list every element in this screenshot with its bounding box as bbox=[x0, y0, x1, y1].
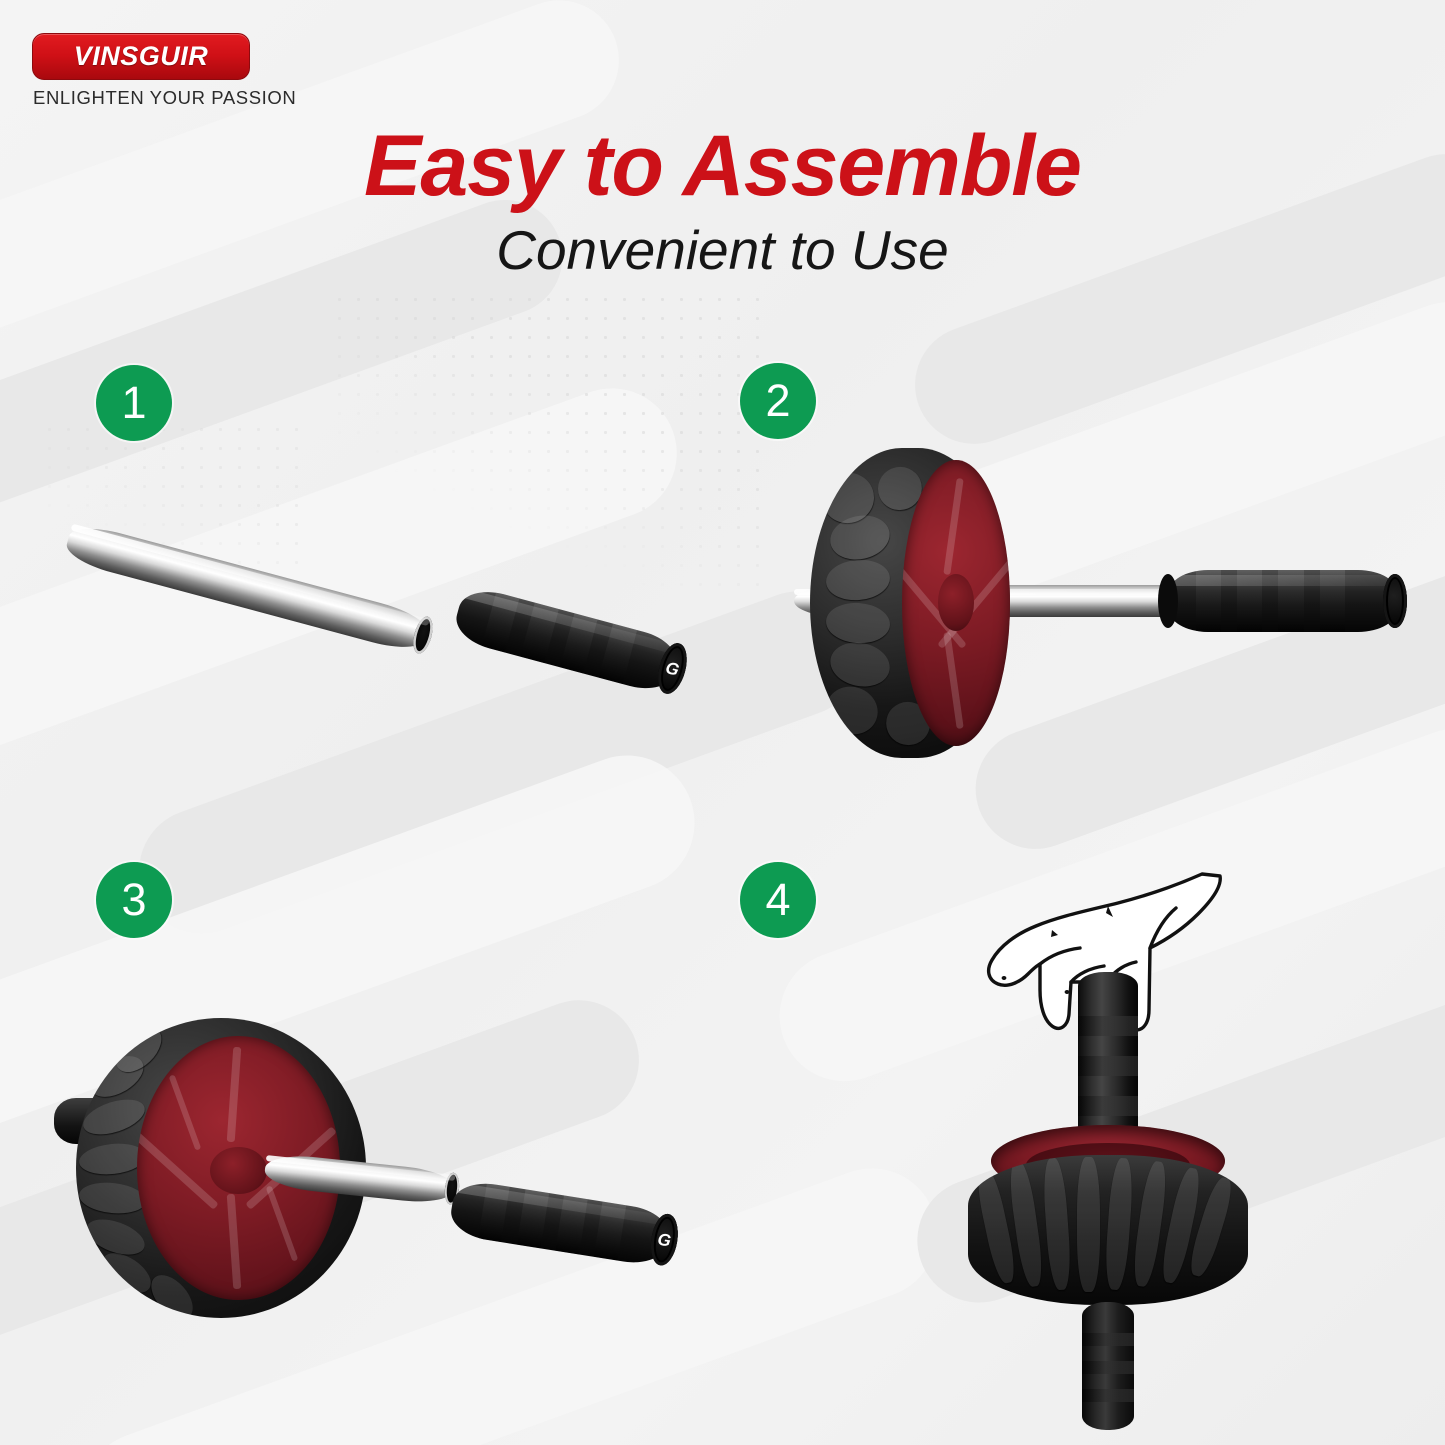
vinsguir-logo: VINSGUIR bbox=[32, 33, 250, 80]
chrome-bar-icon bbox=[63, 521, 431, 655]
brand-logo-block: VINSGUIR ENLIGHTEN YOUR PASSION bbox=[32, 33, 296, 109]
step-2-illustration bbox=[780, 430, 1420, 770]
page-title: Easy to Assemble bbox=[0, 123, 1445, 209]
foam-handle-icon: G bbox=[451, 584, 683, 696]
brand-tagline: ENLIGHTEN YOUR PASSION bbox=[33, 87, 296, 109]
handle-end-cap bbox=[1383, 574, 1407, 628]
ab-wheel-icon bbox=[962, 1125, 1254, 1330]
page-subtitle: Convenient to Use bbox=[0, 223, 1445, 278]
step-badge-4: 4 bbox=[740, 862, 816, 938]
step-badge-2: 2 bbox=[740, 363, 816, 439]
step-3-illustration: G bbox=[40, 1000, 720, 1340]
step-badge-1: 1 bbox=[96, 365, 172, 441]
foam-handle-icon bbox=[1082, 1302, 1134, 1430]
step-4-illustration bbox=[930, 870, 1330, 1430]
handle-cap-logo-icon: G bbox=[656, 1230, 672, 1249]
foam-handle-icon bbox=[1168, 570, 1398, 632]
logo-text: VINSGUIR bbox=[74, 41, 209, 72]
product-infographic: VINSGUIR ENLIGHTEN YOUR PASSION Easy to … bbox=[0, 0, 1445, 1445]
foam-handle-icon: G bbox=[448, 1178, 672, 1267]
ab-wheel-icon bbox=[810, 448, 1010, 758]
handle-cap-logo-icon: G bbox=[664, 659, 681, 679]
step-badge-3: 3 bbox=[96, 862, 172, 938]
wheel-hub bbox=[902, 460, 1010, 745]
step-1-illustration: G bbox=[60, 480, 720, 710]
